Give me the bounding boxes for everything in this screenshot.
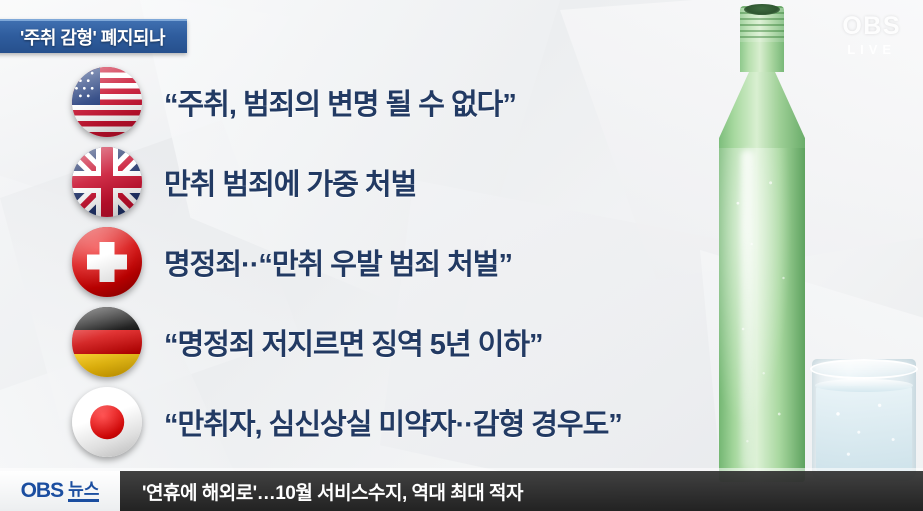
flag-germany-icon — [72, 307, 142, 377]
ticker-text-area: '연휴에 해외로'…10월 서비스수지, 역대 최대 적자 — [120, 471, 923, 511]
country-headline-text: 만취 범죄에 가중 처벌 — [164, 161, 416, 203]
live-badge-text: LIVE — [842, 43, 901, 56]
country-headline-text: “명정죄 저지르면 징역 5년 이하” — [164, 321, 543, 363]
channel-logo-text: OBS — [842, 14, 901, 39]
list-item: 만취 범죄에 가중 처벌 — [0, 142, 800, 222]
list-item: 명정죄··“만취 우발 범죄 처벌” — [0, 222, 800, 302]
flag-switzerland-icon — [72, 227, 142, 297]
list-item: “명정죄 저지르면 징역 5년 이하” — [0, 302, 800, 382]
list-item: “주취, 범죄의 변명 될 수 없다” — [0, 62, 800, 142]
headline-banner-text: '주취 감형' 폐지되나 — [20, 24, 165, 50]
country-headline-text: 명정죄··“만취 우발 범죄 처벌” — [164, 241, 512, 283]
news-ticker-bar: OBS 뉴스 '연휴에 해외로'…10월 서비스수지, 역대 최대 적자 — [0, 471, 923, 511]
list-item: “만취자, 심신상실 미약자··감형 경우도” — [0, 382, 800, 462]
flag-united-kingdom-icon — [72, 147, 142, 217]
headline-banner: '주취 감형' 폐지되나 — [0, 19, 187, 53]
ticker-logo-secondary: 뉴스 — [68, 481, 99, 502]
glass-bubbles — [812, 359, 916, 481]
flag-japan-icon — [72, 387, 142, 457]
shot-glass-image — [812, 359, 916, 481]
flag-united-states-icon — [72, 67, 142, 137]
broadcast-frame: '주취 감형' 폐지되나 OBS LIVE “주취, 범죄의 변명 될 수 없다… — [0, 0, 923, 511]
channel-watermark: OBS LIVE — [842, 14, 901, 56]
ticker-logo-primary: OBS — [21, 479, 64, 503]
country-headline-text: “만취자, 심신상실 미약자··감형 경우도” — [164, 401, 622, 443]
country-headline-list: “주취, 범죄의 변명 될 수 없다” 만취 범죄에 가중 처벌 — [0, 62, 800, 462]
country-headline-text: “주취, 범죄의 변명 될 수 없다” — [164, 81, 516, 123]
ticker-headline-text: '연휴에 해외로'…10월 서비스수지, 역대 최대 적자 — [142, 478, 523, 505]
ticker-logo: OBS 뉴스 — [0, 471, 120, 511]
